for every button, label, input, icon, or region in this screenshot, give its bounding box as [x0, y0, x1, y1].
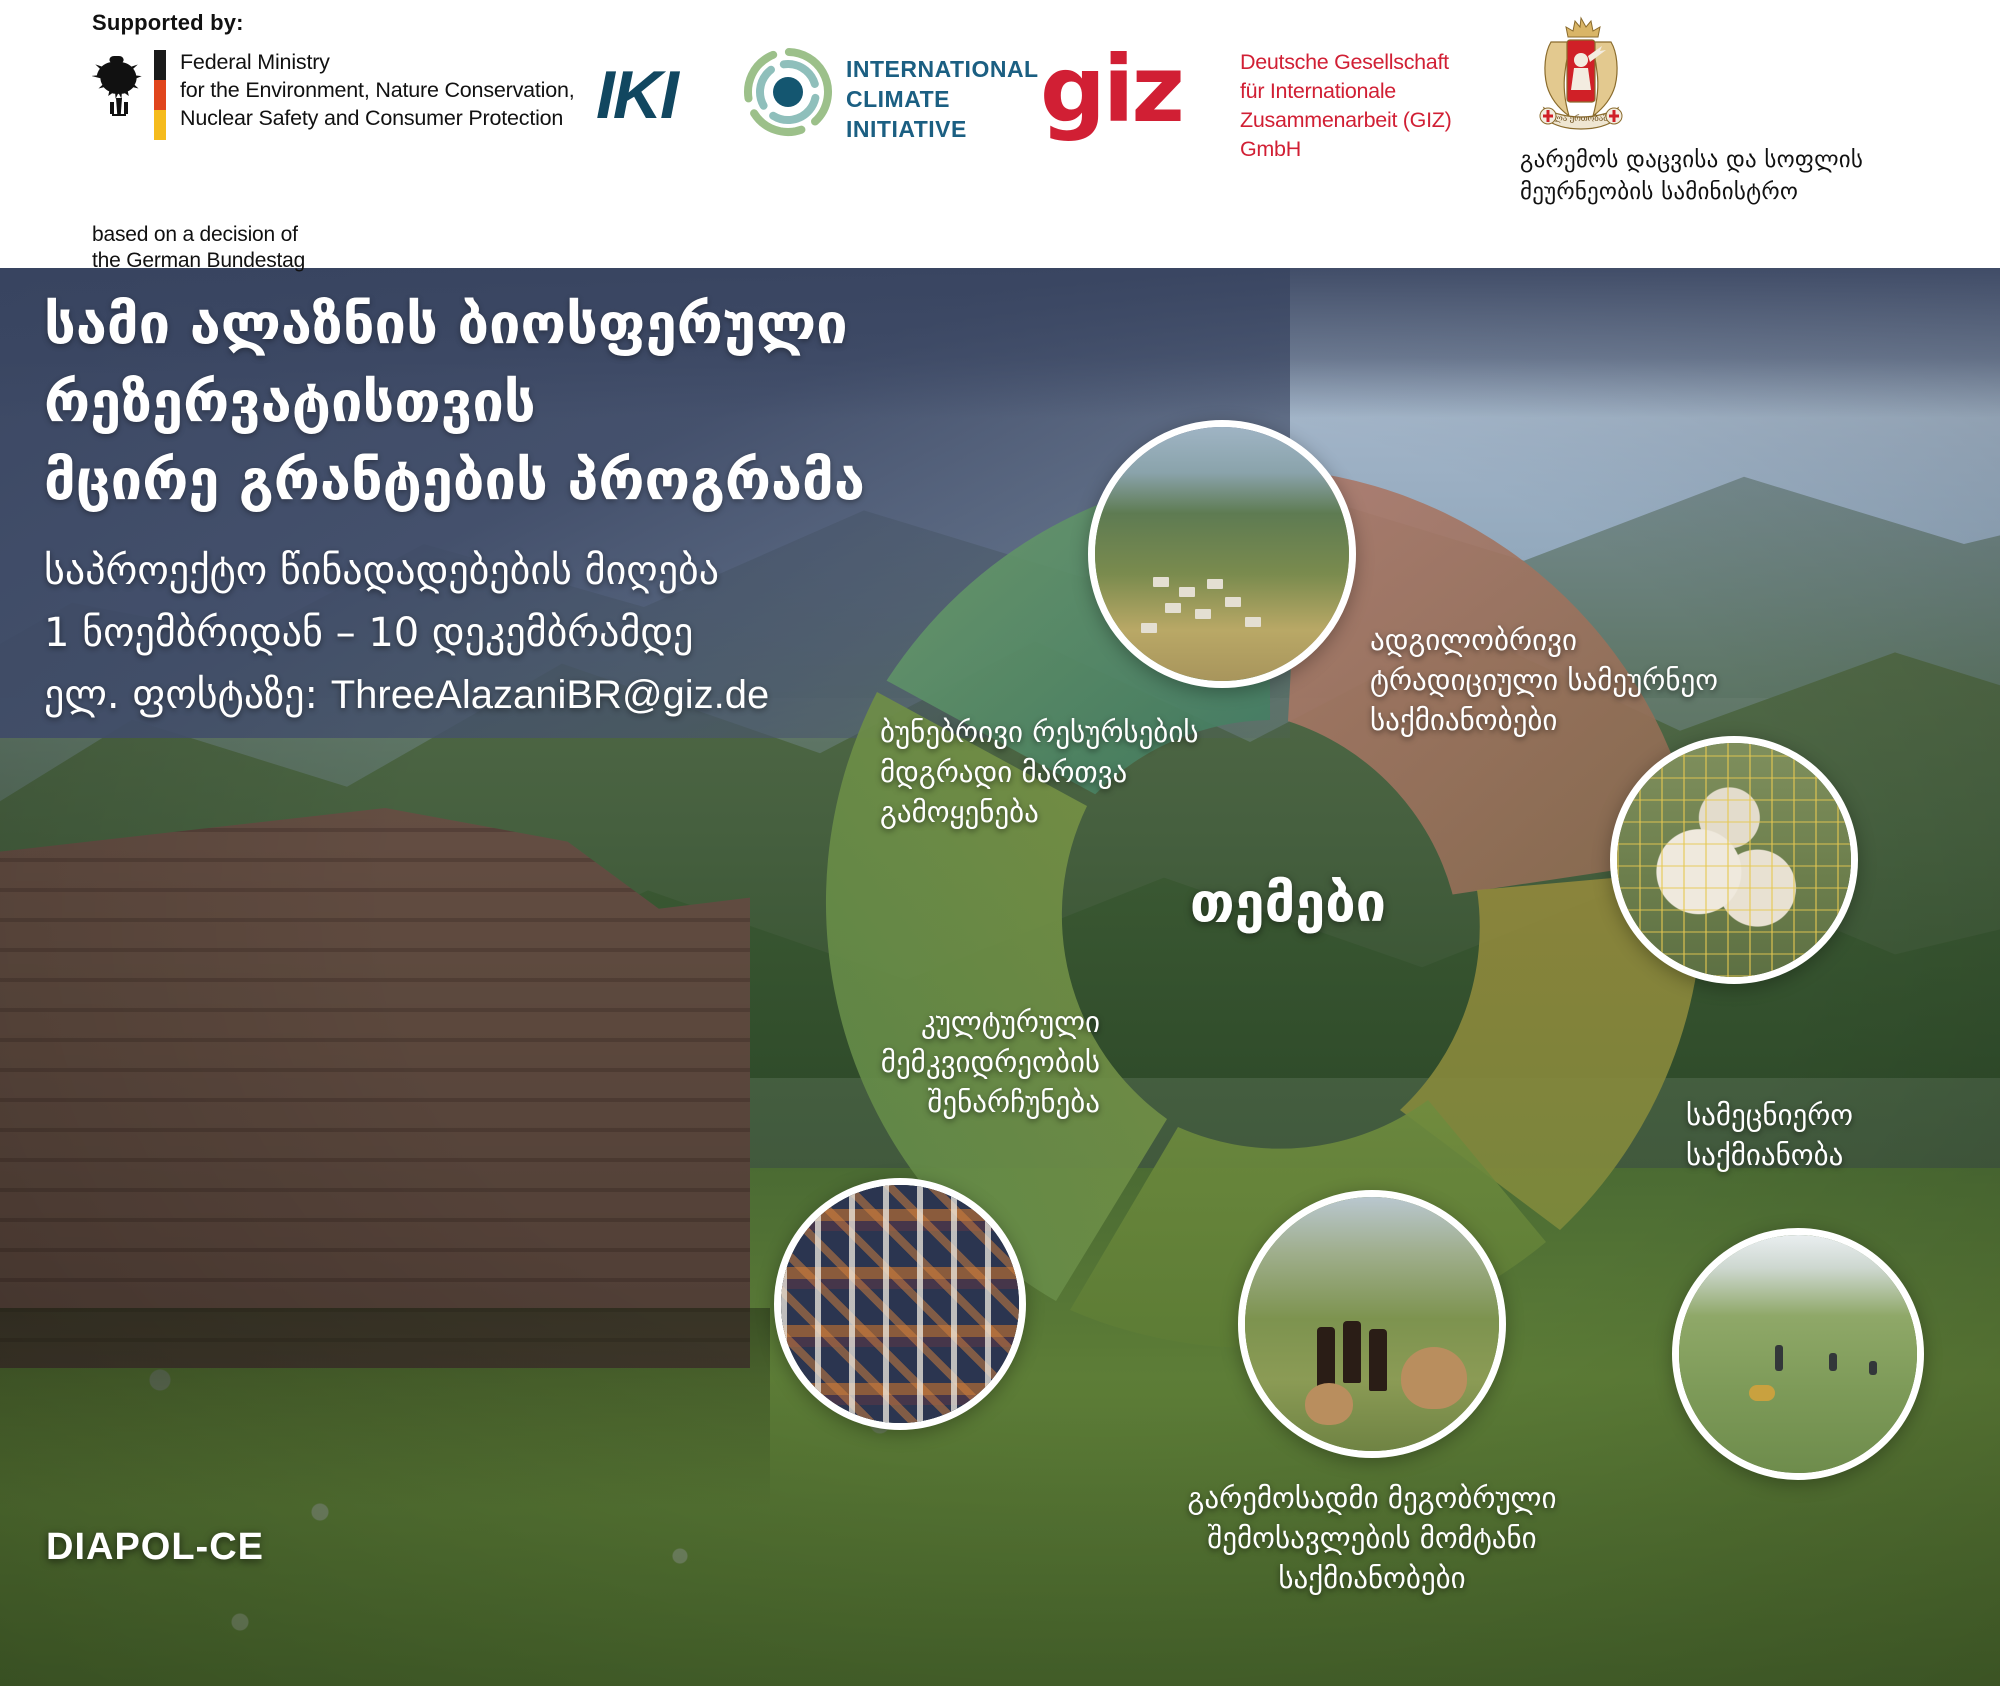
label-scientific-activity: სამეცნიერო საქმიანობა	[1686, 1095, 1986, 1175]
german-eagle-icon	[92, 52, 146, 118]
giz-name: Deutsche Gesellschaft für Internationale…	[1240, 48, 1500, 164]
bmu-logo: Federal Ministry for the Environment, Na…	[92, 50, 512, 138]
georgia-coat-of-arms-icon: ძალა ერთობაშია	[1526, 16, 1636, 136]
poster-subtitle: საპროექტო წინადადებების მიღება 1 ნოემბრი…	[44, 540, 1044, 726]
donor-header: Supported by: Federal Ministry for the E…	[0, 0, 2000, 268]
georgia-ministry-logo: ძალა ერთობაშია გარემოს დაცვისა და სოფლის…	[1520, 16, 1960, 196]
german-flag-bar	[154, 50, 166, 140]
bmu-line-1: Federal Ministry	[180, 48, 600, 76]
carpet-textile-photo	[774, 1178, 1026, 1430]
poster-root: Supported by: Federal Ministry for the E…	[0, 0, 2000, 1686]
iki-logo: IKI INTERNATIONAL CLIMATE INITIATIVE	[596, 46, 1016, 140]
label-eco-friendly-income: გარემოსადმი მეგობრული შემოსავლების მომტა…	[1112, 1478, 1632, 1598]
giz-line-3: Zusammenarbeit (GIZ) GmbH	[1240, 106, 1500, 164]
poster-title: სამი ალაზნის ბიოსფერული რეზერვატისთვის მ…	[44, 286, 1224, 520]
project-brand-label: DIAPOL-CE	[46, 1526, 264, 1569]
bundestag-note: based on a decision of the German Bundes…	[92, 222, 305, 274]
iki-line-1: INTERNATIONAL	[846, 54, 1039, 84]
title-line-2: მცირე გრანტების პროგრამა	[44, 442, 1224, 520]
giz-line-1: Deutsche Gesellschaft	[1240, 48, 1500, 77]
contact-email[interactable]: ThreeAlazaniBR@giz.de	[331, 673, 770, 717]
iki-line-2: CLIMATE	[846, 84, 1039, 114]
label-natural-resources: ბუნებრივი რესურსების მდგრადი მართვა გამო…	[880, 712, 1350, 832]
email-prefix-label: ელ. ფოსტაზე:	[44, 672, 331, 718]
submission-period-line: 1 ნოემბრიდან – 10 დეკემბრამდე	[44, 602, 1044, 664]
supported-by-label: Supported by:	[92, 10, 244, 36]
label-local-traditional: ადგილობრივი ტრადიციული სამეურნეო საქმიან…	[1370, 620, 1840, 740]
call-for-proposals-line: საპროექტო წინადადებების მიღება	[44, 540, 1044, 602]
wine-qvevri-photo	[1238, 1190, 1506, 1458]
giz-wordmark: giz	[1040, 40, 1182, 140]
bmu-line-3: Nuclear Safety and Consumer Protection	[180, 104, 600, 132]
sheep-flock-photo	[1610, 736, 1858, 984]
georgia-ministry-name: გარემოს დაცვისა და სოფლის მეურნეობის სამ…	[1520, 144, 1960, 208]
iki-name: INTERNATIONAL CLIMATE INITIATIVE	[846, 54, 1039, 144]
giz-line-2: für Internationale	[1240, 77, 1500, 106]
bmu-line-2: for the Environment, Nature Conservation…	[180, 76, 600, 104]
iki-wordmark: IKI	[596, 56, 677, 134]
geo-line-2: მეურნეობის სამინისტრო	[1520, 176, 1960, 208]
iki-line-3: INITIATIVE	[846, 114, 1039, 144]
label-cultural-heritage: კულტურული მემკვიდრეობის შენარჩუნება	[770, 1002, 1100, 1122]
giz-logo: giz Deutsche Gesellschaft für Internatio…	[1040, 40, 1460, 150]
title-line-1: სამი ალაზნის ბიოსფერული რეზერვატისთვის	[44, 286, 1224, 442]
email-line: ელ. ფოსტაზე: ThreeAlazaniBR@giz.de	[44, 664, 1044, 726]
geo-line-1: გარემოს დაცვისა და სოფლის	[1520, 144, 1960, 176]
iki-concentric-circles-icon	[742, 46, 834, 138]
field-survey-photo	[1672, 1228, 1924, 1480]
bmu-ministry-name: Federal Ministry for the Environment, Na…	[180, 48, 600, 132]
